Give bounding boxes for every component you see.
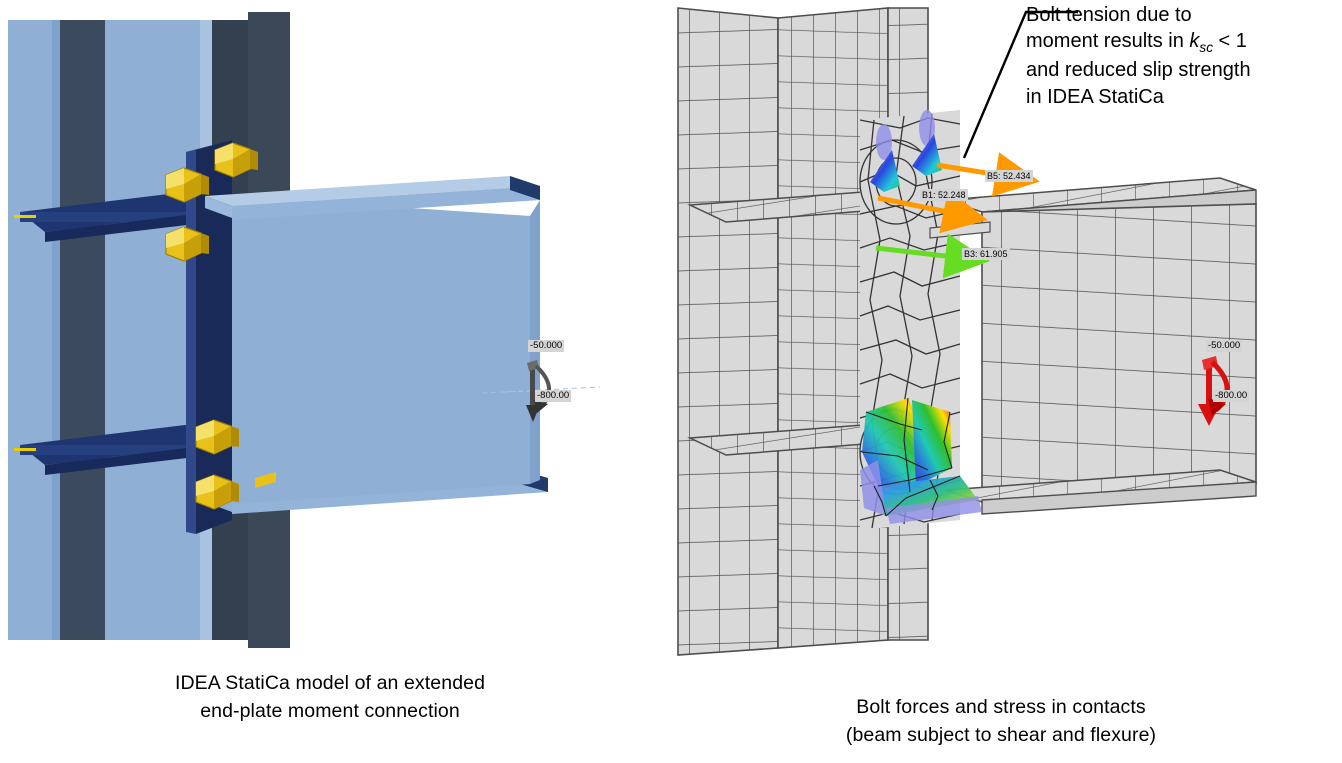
weld-mark-left-upper (14, 215, 36, 218)
shear-force-label: -50.000 (528, 340, 564, 352)
left-model-graphic (0, 0, 660, 660)
caption-left-line-1: IDEA StatiCa model of an extended (0, 670, 660, 698)
weld-mark-left-lower (14, 448, 36, 451)
contact-stress-contour (860, 398, 982, 524)
k-sc-symbol: ksc (1189, 30, 1213, 52)
beam-web-mesh (982, 204, 1256, 500)
annotation-callout: Bolt tension due to moment results in ks… (1026, 2, 1342, 110)
beam-web (232, 196, 530, 504)
annotation-line-1: Bolt tension due to (1026, 2, 1342, 28)
left-3d-viewport[interactable]: -50.000 -800.00 (0, 0, 660, 660)
caption-right-line-2: (beam subject to shear and flexure) (660, 722, 1342, 750)
bolt-force-b1: B1: 52.248 (920, 189, 968, 201)
caption-right-line-1: Bolt forces and stress in contacts (660, 694, 1342, 722)
column-web-left (60, 20, 105, 640)
bolt-force-b5: B5: 52.434 (985, 170, 1033, 182)
column-flange-left (8, 20, 52, 640)
left-model-panel: -50.000 -800.00 (0, 0, 660, 660)
column-flange-left-mesh (678, 8, 778, 655)
annotation-line-3: and reduced slip strength (1026, 57, 1342, 83)
column-flange-left-edge (52, 20, 60, 640)
annotation-line-2: moment results in ksc < 1 (1026, 28, 1342, 57)
left-panel-caption: IDEA StatiCa model of an extended end-pl… (0, 670, 660, 725)
annotation-line-4: in IDEA StatiCa (1026, 84, 1342, 110)
shear-force-label: -50.000 (1206, 340, 1242, 352)
moment-label: -800.00 (1213, 390, 1249, 402)
figure-root: -50.000 -800.00 (0, 0, 1342, 763)
column-flange-middle (105, 20, 200, 640)
moment-label: -800.00 (535, 390, 571, 402)
caption-left-line-2: end-plate moment connection (0, 698, 660, 726)
bolt-force-b3: B3: 61.905 (962, 248, 1010, 260)
right-panel-caption: Bolt forces and stress in contacts (beam… (660, 694, 1342, 749)
